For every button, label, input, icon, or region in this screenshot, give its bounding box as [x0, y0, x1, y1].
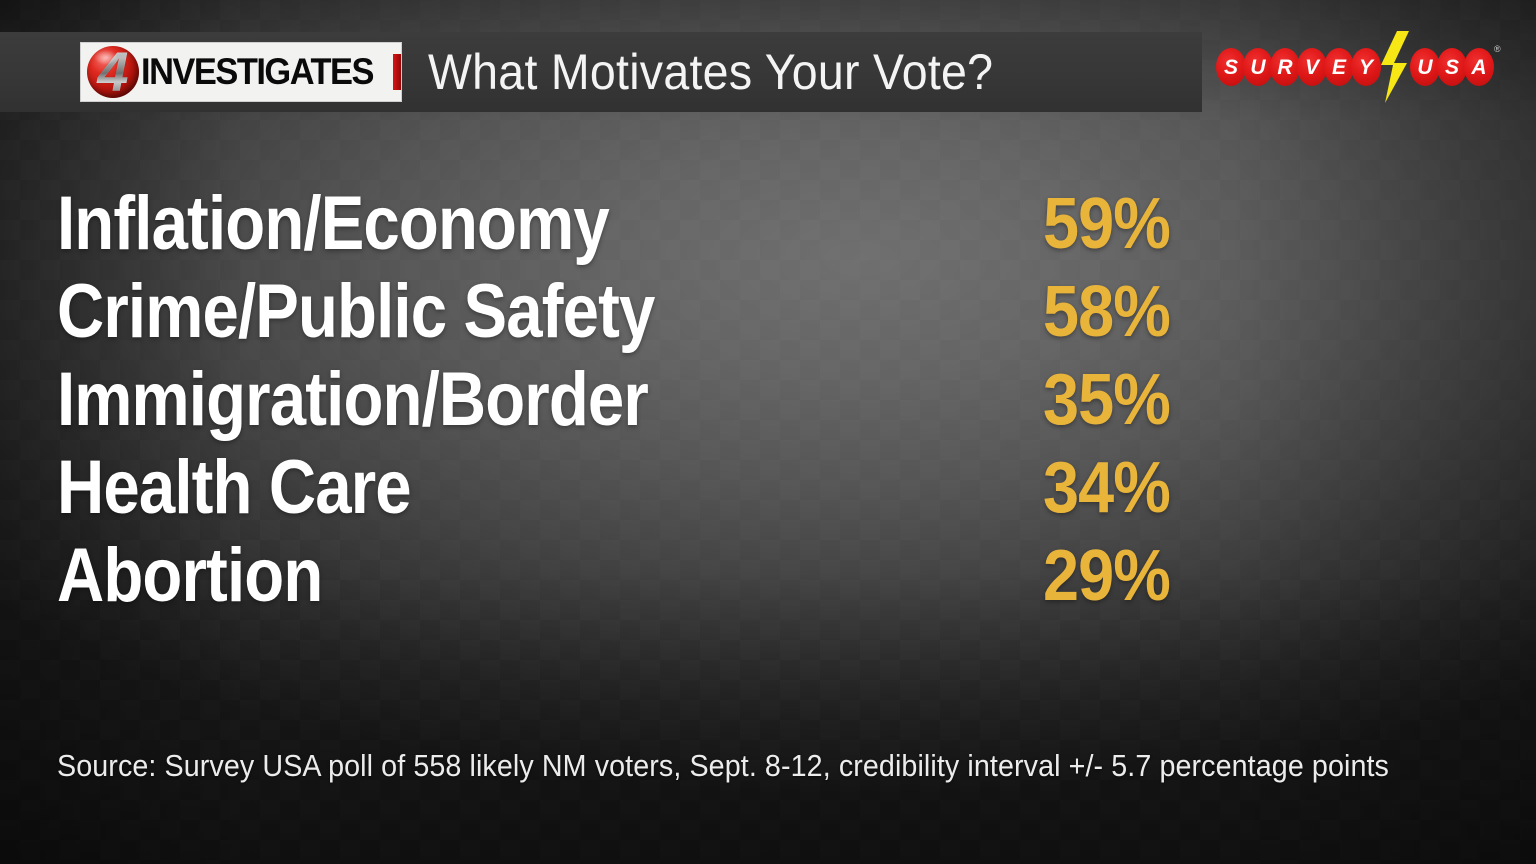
- station-logo-word: INVESTIGATES: [141, 51, 373, 93]
- result-row: Inflation/Economy 59%: [57, 180, 1237, 268]
- issue-percentage: 34%: [1043, 444, 1170, 532]
- channel-four-ball-icon: 4: [87, 46, 139, 98]
- station-logo: 4 INVESTIGATES: [80, 42, 402, 102]
- surveyusa-letter: S: [1437, 48, 1467, 86]
- surveyusa-letter: S: [1216, 48, 1246, 86]
- issue-label: Inflation/Economy: [57, 180, 609, 268]
- registered-mark: ®: [1494, 44, 1501, 54]
- issue-percentage: 59%: [1043, 180, 1170, 268]
- surveyusa-letter: E: [1324, 48, 1354, 86]
- surveyusa-letter: V: [1297, 48, 1327, 86]
- results-list: Inflation/Economy 59% Crime/Public Safet…: [57, 180, 1237, 620]
- source-note: Source: Survey USA poll of 558 likely NM…: [57, 748, 1389, 784]
- page-title: What Motivates Your Vote?: [428, 43, 993, 101]
- surveyusa-letter: U: [1243, 48, 1273, 86]
- issue-label: Immigration/Border: [57, 356, 648, 444]
- issue-label: Crime/Public Safety: [57, 268, 655, 356]
- result-row: Crime/Public Safety 58%: [57, 268, 1237, 356]
- issue-percentage: 29%: [1043, 532, 1170, 620]
- header-bar: 4 INVESTIGATES What Motivates Your Vote?: [0, 32, 1202, 112]
- graphic-slide: 4 INVESTIGATES What Motivates Your Vote?…: [0, 0, 1536, 864]
- issue-label: Abortion: [57, 532, 322, 620]
- channel-number: 4: [87, 42, 139, 102]
- surveyusa-letter: A: [1464, 48, 1494, 86]
- surveyusa-logo: S U R V E Y U S A ®: [1216, 42, 1501, 92]
- lightning-bolt-icon: [1371, 31, 1417, 103]
- result-row: Health Care 34%: [57, 444, 1237, 532]
- issue-label: Health Care: [57, 444, 411, 532]
- red-accent-bar-icon: [393, 54, 402, 90]
- surveyusa-letter: R: [1270, 48, 1300, 86]
- issue-percentage: 58%: [1043, 268, 1170, 356]
- issue-percentage: 35%: [1043, 356, 1170, 444]
- result-row: Immigration/Border 35%: [57, 356, 1237, 444]
- result-row: Abortion 29%: [57, 532, 1237, 620]
